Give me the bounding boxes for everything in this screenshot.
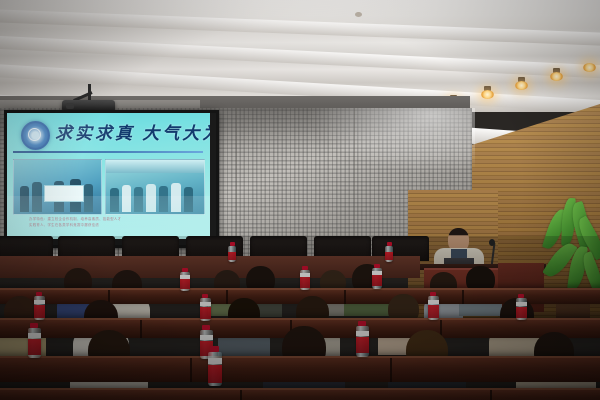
bottle-label bbox=[300, 277, 310, 288]
bottle-label bbox=[516, 307, 527, 318]
desk-segment bbox=[490, 390, 600, 400]
bottle-cap bbox=[30, 323, 38, 328]
projector-lens bbox=[66, 103, 74, 109]
screen-lower-reflection bbox=[7, 196, 210, 239]
bottle-cap bbox=[518, 294, 524, 298]
bottle-cap bbox=[210, 346, 219, 352]
slide-title: 求实求真 大气大为 bbox=[55, 120, 205, 147]
bottle-label bbox=[28, 339, 41, 355]
water-bottle bbox=[356, 326, 369, 357]
projector-mount-pole bbox=[88, 84, 91, 101]
bottle-label bbox=[180, 279, 190, 289]
water-bottle bbox=[28, 328, 41, 358]
microphone-icon bbox=[489, 239, 495, 246]
ceiling-spotlight bbox=[550, 72, 563, 81]
bottle-label-white bbox=[34, 300, 45, 304]
bottle-label-white bbox=[28, 333, 41, 338]
bottle-cap bbox=[430, 292, 436, 296]
desk-row-foreground bbox=[0, 356, 600, 382]
bottle-label-white bbox=[516, 302, 527, 306]
photo-lab-ceiling bbox=[106, 160, 204, 173]
bottle-cap bbox=[202, 325, 210, 330]
bottle-label bbox=[356, 337, 369, 353]
desk-segment bbox=[0, 358, 192, 382]
bottle-cap bbox=[182, 268, 188, 272]
bottle-cap bbox=[302, 266, 308, 270]
bottle-label-white bbox=[200, 335, 213, 340]
water-bottle bbox=[300, 270, 310, 290]
bottle-cap bbox=[230, 242, 235, 246]
bottle-label-white bbox=[208, 358, 222, 364]
water-bottle bbox=[200, 298, 211, 321]
wall-light-glow bbox=[300, 108, 475, 178]
bottle-cap bbox=[374, 264, 380, 268]
bottle-label-white bbox=[356, 331, 369, 336]
ceiling-spotlight bbox=[583, 63, 596, 72]
bottle-label bbox=[208, 365, 222, 383]
water-bottle bbox=[34, 296, 45, 320]
water-bottle bbox=[372, 268, 382, 289]
ceiling-spotlight bbox=[515, 81, 528, 90]
bottle-cap bbox=[202, 294, 208, 298]
water-bottle bbox=[180, 272, 190, 291]
bottle-cap bbox=[387, 242, 392, 246]
water-bottle bbox=[428, 296, 439, 320]
bottle-label bbox=[428, 305, 439, 318]
bottle-cap bbox=[358, 321, 366, 326]
water-bottle bbox=[228, 246, 236, 262]
emblem-inner-ring bbox=[28, 128, 41, 141]
water-bottle bbox=[208, 352, 222, 386]
bottle-label bbox=[34, 305, 45, 318]
desk-segment bbox=[240, 390, 492, 400]
desk-segment bbox=[390, 358, 600, 382]
bottle-label bbox=[200, 307, 211, 319]
slide-divider bbox=[13, 151, 203, 153]
desk-row-closest bbox=[0, 388, 600, 400]
lecture-hall-photo: 求实求真 大气大为 办学特色：建立校企合作机制，培养高素质、技能型人才 实践育人… bbox=[0, 0, 600, 400]
bottle-label bbox=[228, 252, 236, 260]
bottle-label bbox=[372, 275, 382, 286]
bottle-cap bbox=[36, 292, 42, 296]
water-bottle bbox=[385, 246, 393, 262]
desk-segment bbox=[140, 320, 292, 338]
university-emblem-icon bbox=[21, 121, 50, 150]
bottle-label-white bbox=[428, 300, 439, 304]
bottle-label bbox=[385, 252, 393, 260]
desk-segment bbox=[440, 320, 600, 338]
desk-segment bbox=[0, 390, 242, 400]
ceiling-vent bbox=[355, 12, 362, 17]
bottle-label-white bbox=[200, 302, 211, 306]
water-bottle bbox=[516, 298, 527, 320]
ceiling-spotlight bbox=[481, 90, 494, 99]
